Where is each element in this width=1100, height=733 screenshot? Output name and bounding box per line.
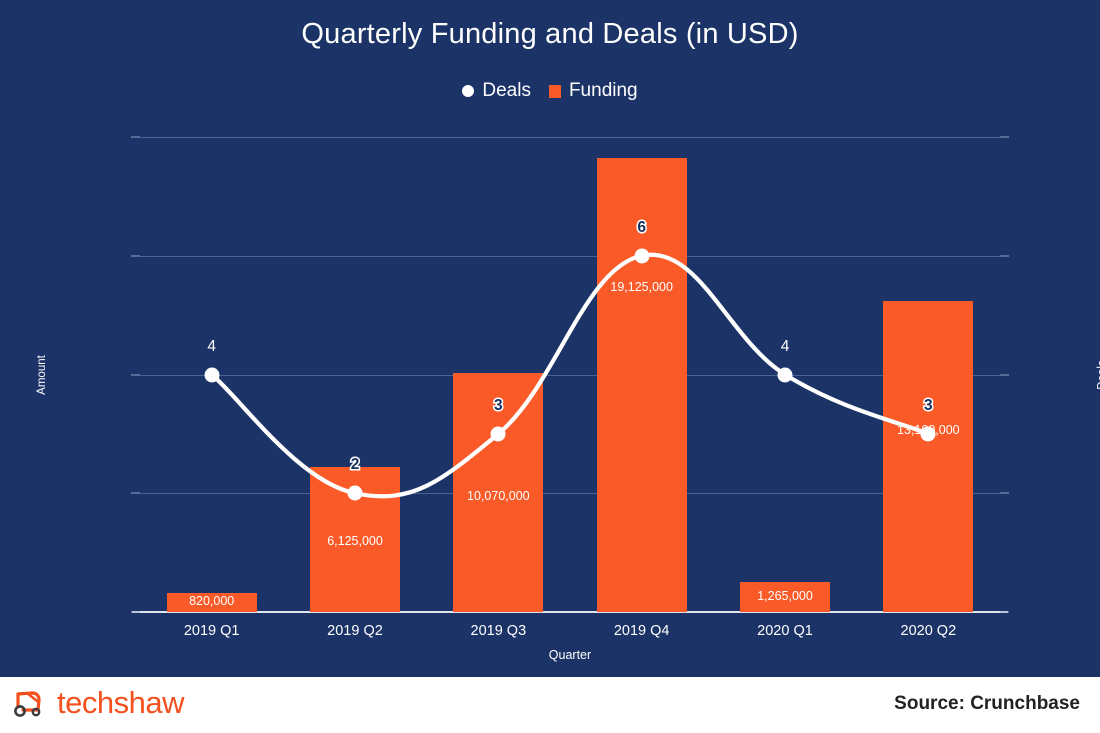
- legend-label-deals: Deals: [482, 80, 531, 102]
- x-axis-tick-label: 2020 Q1: [757, 623, 813, 639]
- deals-point-label: 3: [924, 397, 933, 415]
- x-axis-tick-label: 2019 Q1: [184, 623, 240, 639]
- chart-title: Quarterly Funding and Deals (in USD): [0, 18, 1100, 51]
- y-axis-left-title: Amount: [36, 355, 48, 395]
- deals-point-label: 3: [494, 397, 503, 415]
- deals-data-point[interactable]: [491, 426, 506, 441]
- deals-line-series: [140, 137, 1000, 612]
- y-axis-left-tick-mark: [131, 493, 140, 494]
- legend-item-deals[interactable]: Deals: [462, 80, 531, 102]
- y-axis-right-tick-mark: [1000, 374, 1009, 375]
- legend-label-funding: Funding: [569, 80, 638, 102]
- deals-point-label: 4: [781, 338, 790, 356]
- legend-item-funding[interactable]: Funding: [549, 80, 638, 102]
- brand-logo-text: techshaw: [57, 685, 184, 721]
- deals-point-label: 2: [351, 456, 360, 474]
- x-axis-tick-label: 2019 Q4: [614, 623, 670, 639]
- x-axis-tick-label: 2019 Q3: [471, 623, 527, 639]
- y-axis-left-tick-mark: [131, 374, 140, 375]
- deals-data-point[interactable]: [348, 486, 363, 501]
- cart-icon: [14, 688, 50, 718]
- legend-square-marker-icon: [549, 85, 561, 98]
- deals-data-point[interactable]: [778, 367, 793, 382]
- source-attribution: Source: Crunchbase: [894, 693, 1080, 715]
- y-axis-right-tick-mark: [1000, 493, 1009, 494]
- chart-panel: Quarterly Funding and Deals (in USD) Dea…: [0, 0, 1100, 677]
- deals-data-point[interactable]: [634, 248, 649, 263]
- x-axis-tick-label: 2020 Q2: [901, 623, 957, 639]
- x-axis-title: Quarter: [140, 648, 1000, 662]
- plot-area: Amount Deals Quarter -5,000,00010,000,00…: [140, 137, 1000, 612]
- legend-circle-marker-icon: [462, 85, 474, 97]
- chart-page: Quarterly Funding and Deals (in USD) Dea…: [0, 0, 1100, 733]
- deals-point-label: 4: [207, 338, 216, 356]
- y-axis-left-tick-mark: [131, 255, 140, 256]
- footer-bar: techshaw Source: Crunchbase: [0, 677, 1100, 733]
- y-axis-right-tick-mark: [1000, 137, 1009, 138]
- y-axis-left-tick-mark: [131, 137, 140, 138]
- x-axis-tick-label: 2019 Q2: [327, 623, 383, 639]
- y-axis-right-tick-mark: [1000, 255, 1009, 256]
- deals-data-point[interactable]: [204, 367, 219, 382]
- brand-logo[interactable]: techshaw: [14, 685, 184, 721]
- deals-data-point[interactable]: [921, 426, 936, 441]
- chart-legend: Deals Funding: [0, 80, 1100, 102]
- y-axis-right-tick-mark: [1000, 612, 1009, 613]
- deals-point-label: 6: [637, 219, 646, 237]
- y-axis-left-tick-mark: [131, 612, 140, 613]
